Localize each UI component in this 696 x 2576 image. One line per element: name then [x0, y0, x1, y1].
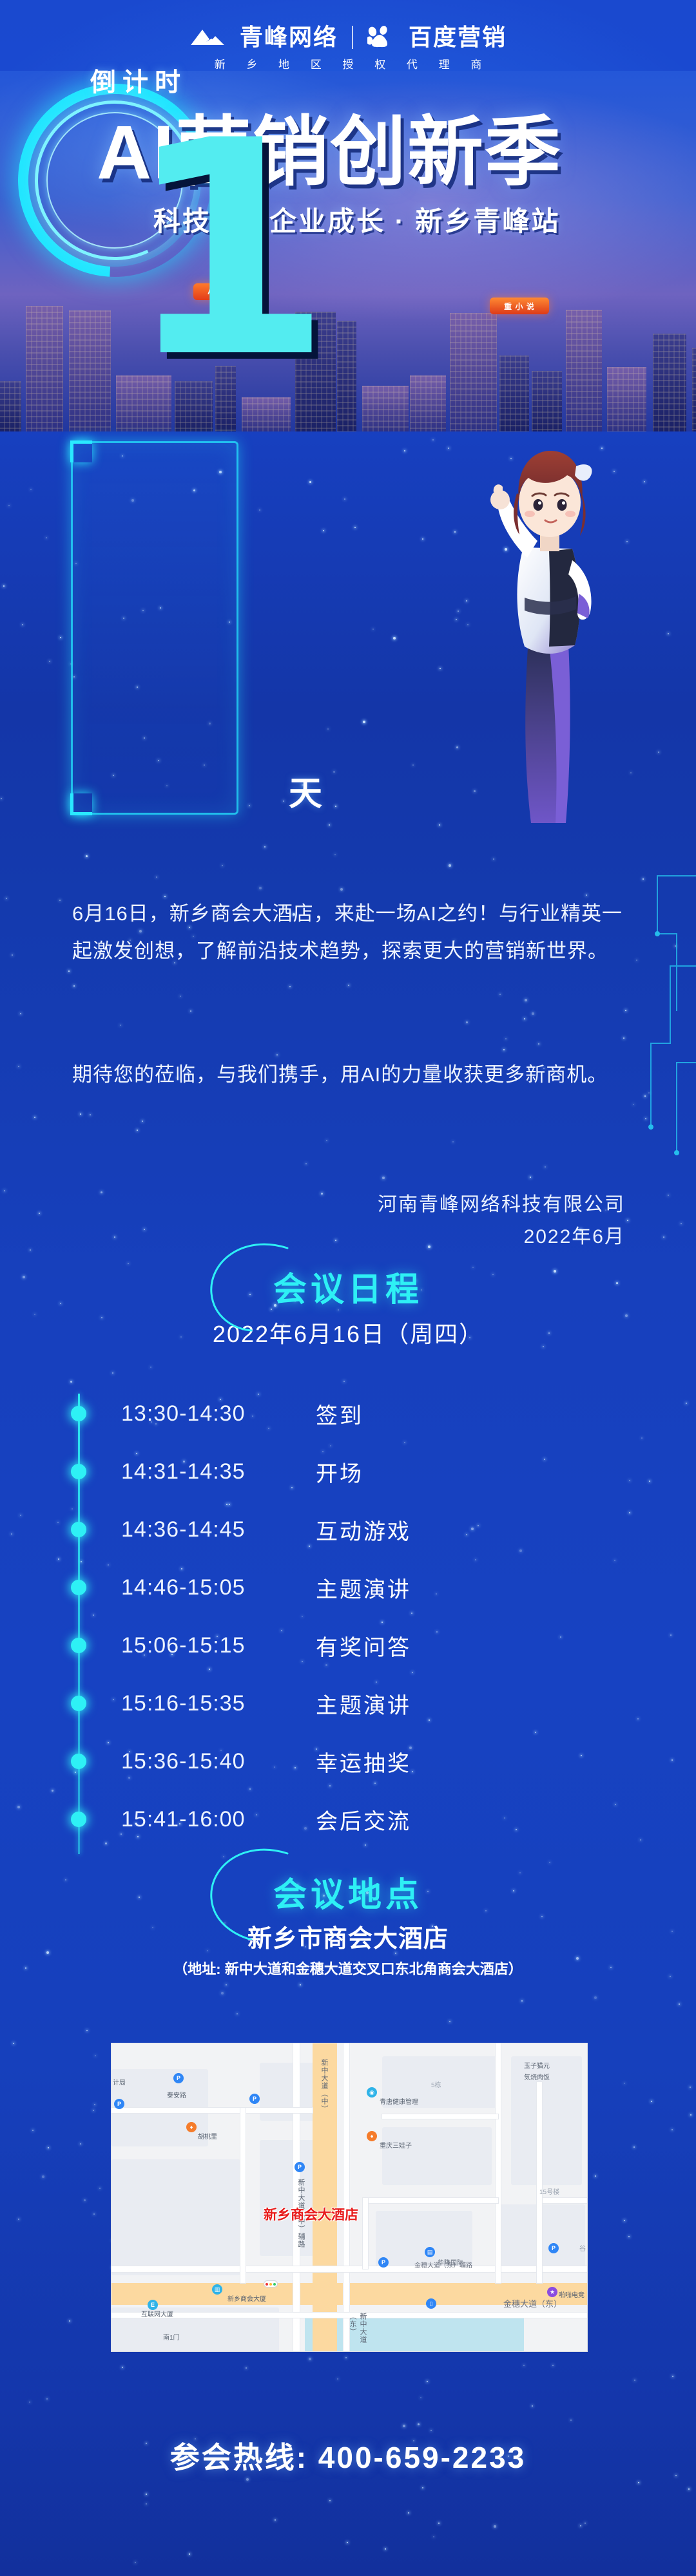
entertainment-pin-icon: ★: [547, 2287, 557, 2300]
timeline-dot-icon: [71, 1464, 86, 1479]
hotel-pin-icon: ▤: [425, 2247, 435, 2260]
parking-pin-icon: P: [173, 2073, 184, 2087]
timeline-dot-icon: [71, 1580, 86, 1595]
timeline-dot-icon: [71, 1696, 86, 1711]
schedule-time: 14:31-14:35: [121, 1459, 246, 1484]
signpost-badge-2: 重 小 说: [490, 298, 549, 314]
venue-section-title: 会议地点: [273, 1868, 423, 1916]
map-road-label: 新中大道（中）辅路: [296, 2179, 306, 2275]
countdown-number: 1: [126, 132, 332, 369]
brand-primary-label: 青峰网络: [240, 26, 338, 49]
brand-header: 青峰网络 百度营销 新 乡 地 区 授 权 代 理 商: [0, 26, 696, 71]
schedule-item: 幸运抽奖: [316, 1746, 411, 1777]
venue-map[interactable]: 计局 泰安路 胡桃里 青唐健康管理 重庆三娃子 玉子猫元 気烧肉饭 5栋 15号…: [111, 2043, 588, 2352]
venue-map-highlight: 新乡商会大酒店: [264, 2204, 358, 2224]
venue-address: （地址: 新中大道和金穗大道交叉口东北角商会大酒店）: [0, 1958, 696, 1978]
map-road-label: 新中大道（中）: [319, 2059, 329, 2155]
hotline-text: 参会热线: 400-659-2233: [0, 2434, 696, 2477]
schedule-time: 13:30-14:30: [121, 1401, 246, 1426]
schedule-time: 15:16-15:35: [121, 1691, 246, 1716]
poster-root: AI营销创新季 科技助力企业成长 · 新乡青峰站 AI 重 小 说 青峰网络: [0, 0, 696, 2576]
parking-pin-icon: P: [378, 2257, 389, 2271]
frame-corner-bottom-left-icon: [70, 793, 92, 815]
schedule-item: 有奖问答: [316, 1630, 411, 1662]
entrance-pin-icon: E: [148, 2300, 158, 2313]
traffic-light-icon: [264, 2280, 278, 2287]
schedule-row: 15:41-16:00会后交流: [0, 1790, 696, 1848]
brand-secondary-label: 百度营销: [409, 26, 507, 49]
map-label: 気烧肉饭: [524, 2072, 550, 2081]
baidu-paw-icon: [367, 26, 394, 49]
intro-paragraph-2: 期待您的莅临，与我们携手，用AI的力量收获更多新商机。: [72, 1056, 626, 1094]
schedule-row: 14:36-14:45互动游戏: [0, 1501, 696, 1558]
parking-pin-icon: P: [548, 2243, 559, 2257]
schedule-section-title: 会议日程: [273, 1262, 423, 1311]
timeline-dot-icon: [71, 1812, 86, 1827]
schedule-row: 15:36-15:40幸运抽奖: [0, 1732, 696, 1790]
schedule-time: 15:41-16:00: [121, 1807, 246, 1832]
timeline-dot-icon: [71, 1638, 86, 1653]
schedule-time: 15:36-15:40: [121, 1749, 246, 1774]
map-label: 重庆三娃子: [380, 2140, 412, 2150]
parking-pin-icon: P: [295, 2162, 305, 2175]
map-road-label: 新中大道（东）: [347, 2313, 368, 2352]
schedule-time: 14:36-14:45: [121, 1517, 246, 1542]
map-label: 南1门: [163, 2332, 180, 2342]
schedule-row: 14:31-14:35开场: [0, 1443, 696, 1501]
city-skyline-illustration: [0, 270, 696, 431]
schedule-item: 主题演讲: [316, 1688, 411, 1719]
map-label: 泰安路: [167, 2090, 186, 2099]
schedule-row: 14:46-15:05主题演讲: [0, 1558, 696, 1616]
map-label: 谷: [579, 2243, 586, 2253]
schedule-item: 签到: [316, 1398, 363, 1430]
brand-tagline: 新 乡 地 区 授 权 代 理 商: [206, 55, 491, 71]
hotel-pin-icon: ◉: [367, 2087, 377, 2101]
restaurant-pin-icon: ♦: [367, 2131, 377, 2145]
schedule-item: 开场: [316, 1456, 363, 1488]
map-road-label: 金穗大道（东）辅路: [414, 2260, 472, 2269]
hero-banner: AI营销创新季 科技助力企业成长 · 新乡青峰站 AI 重 小 说: [0, 71, 696, 431]
schedule-row: 15:16-15:35主题演讲: [0, 1674, 696, 1732]
timeline-dot-icon: [71, 1754, 86, 1769]
timeline-dot-icon: [71, 1522, 86, 1537]
mascot-character-illustration: [452, 425, 646, 844]
schedule-section-date: 2022年6月16日（周四）: [0, 1316, 696, 1349]
schedule-time: 14:46-15:05: [121, 1575, 246, 1600]
schedule-time: 15:06-15:15: [121, 1633, 246, 1658]
countdown-unit: 天: [289, 766, 322, 815]
map-label: 新乡商会大厦: [227, 2293, 266, 2303]
parking-pin-icon: P: [249, 2094, 260, 2107]
schedule-heading-block: 会议日程 2022年6月16日（周四）: [0, 1262, 696, 1349]
schedule-row: 15:06-15:15有奖问答: [0, 1616, 696, 1674]
map-label: 啪啪电竞: [559, 2289, 585, 2299]
map-label: 计局: [113, 2077, 126, 2087]
schedule-item: 会后交流: [316, 1804, 411, 1835]
mountain-peak-icon: [189, 26, 226, 49]
signature-date: 2022年6月: [524, 1220, 625, 1249]
brand-logo-row: 青峰网络 百度营销: [189, 26, 507, 49]
hotel-pin-icon: ▥: [212, 2284, 222, 2298]
frame-corner-top-left-icon: [70, 440, 92, 462]
map-label: 玉子猫元: [524, 2060, 550, 2070]
map-label: 胡桃里: [198, 2131, 217, 2141]
parking-pin-icon: P: [114, 2099, 124, 2112]
schedule-item: 主题演讲: [316, 1572, 411, 1604]
map-label: 15号楼: [539, 2186, 559, 2196]
signature-company: 河南青峰网络科技有限公司: [378, 1188, 625, 1217]
venue-heading-block: 会议地点 新乡市商会大酒店 （地址: 新中大道和金穗大道交叉口东北角商会大酒店）: [0, 1868, 696, 1978]
countdown-frame: [71, 441, 238, 815]
venue-name: 新乡市商会大酒店: [0, 1918, 696, 1954]
map-label: 青唐健康管理: [380, 2096, 418, 2106]
schedule-timeline: 13:30-14:30签到14:31-14:35开场14:36-14:45互动游…: [0, 1385, 696, 1848]
timeline-dot-icon: [71, 1406, 86, 1421]
bus-pin-icon: ▯: [426, 2298, 436, 2312]
schedule-item: 互动游戏: [316, 1514, 411, 1546]
intro-paragraph-1: 6月16日，新乡商会大酒店，来赴一场AI之约！与行业精英一起激发创想，了解前沿技…: [72, 895, 626, 970]
map-label: 5栋: [431, 2079, 441, 2089]
schedule-row: 13:30-14:30签到: [0, 1385, 696, 1443]
restaurant-pin-icon: ♦: [186, 2122, 197, 2136]
brand-divider: [352, 26, 353, 49]
